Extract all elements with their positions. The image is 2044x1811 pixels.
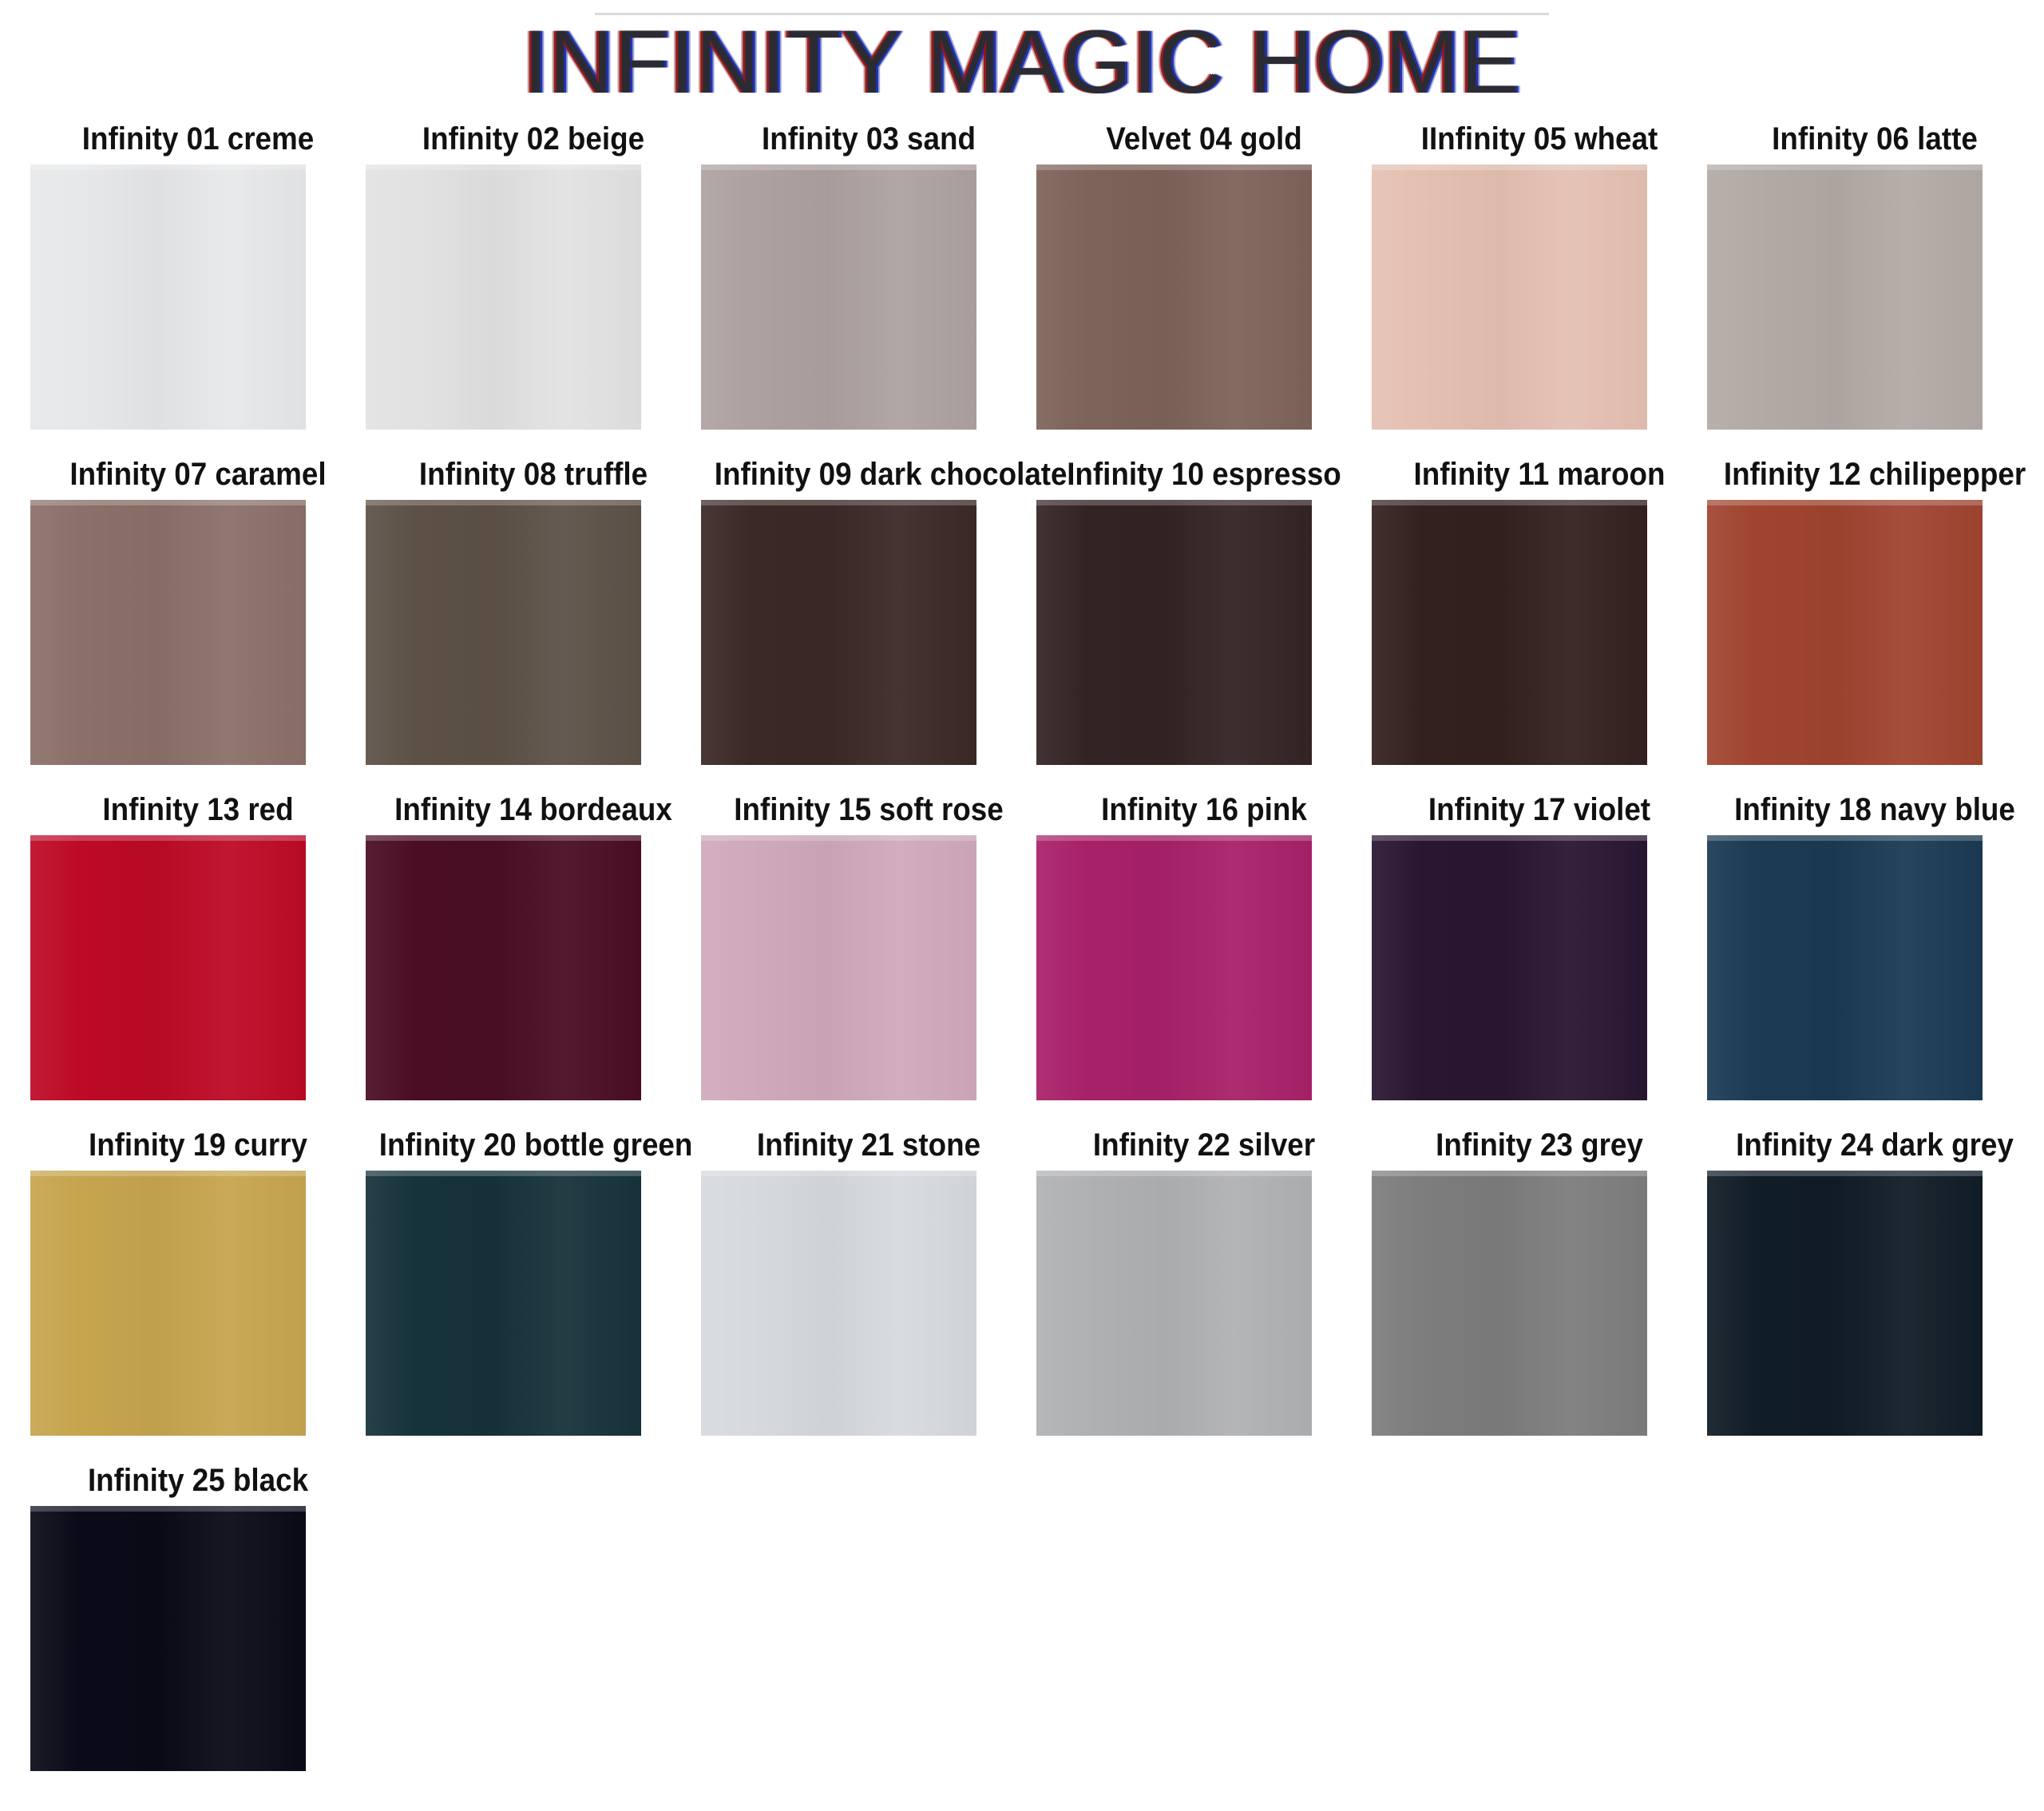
swatch-color-chip[interactable]	[366, 500, 641, 765]
swatch-color-chip[interactable]	[1036, 164, 1312, 430]
swatch-row: Infinity 25 black	[30, 1463, 2026, 1798]
swatch-cell[interactable]: Velvet 04 gold	[1036, 121, 1372, 457]
swatch-label: Infinity 10 espresso	[1050, 457, 1358, 500]
swatch-row: Infinity 13 redInfinity 14 bordeauxInfin…	[30, 792, 2026, 1127]
swatch-cell[interactable]: Infinity 21 stone	[701, 1127, 1036, 1463]
swatch-cell[interactable]: Infinity 12 chilipepper	[1707, 457, 2042, 792]
swatch-color-chip[interactable]	[1372, 1171, 1647, 1436]
swatch-label: Velvet 04 gold	[1050, 121, 1358, 164]
swatch-color-chip[interactable]	[1036, 1171, 1312, 1436]
swatch-cell[interactable]: Infinity 18 navy blue	[1707, 792, 2042, 1127]
swatch-color-chip[interactable]	[701, 164, 976, 430]
swatch-label: Infinity 20 bottle green	[379, 1127, 687, 1171]
swatch-color-chip[interactable]	[30, 835, 306, 1100]
swatch-color-chip[interactable]	[1372, 500, 1647, 765]
swatch-label: Infinity 15 soft rose	[715, 792, 1023, 835]
swatch-label: Infinity 06 latte	[1721, 121, 2029, 164]
swatch-cell[interactable]: Infinity 07 caramel	[30, 457, 366, 792]
swatch-cell[interactable]: Infinity 11 maroon	[1372, 457, 1707, 792]
swatch-label: Infinity 24 dark grey	[1721, 1127, 2029, 1171]
swatch-cell[interactable]: Infinity 19 curry	[30, 1127, 366, 1463]
swatch-color-chip[interactable]	[1372, 835, 1647, 1100]
swatch-color-chip[interactable]	[366, 1171, 641, 1436]
swatch-color-chip[interactable]	[30, 500, 306, 765]
swatch-cell[interactable]: Infinity 15 soft rose	[701, 792, 1036, 1127]
color-swatch-grid: Infinity 01 cremeInfinity 02 beigeInfini…	[30, 121, 2026, 1798]
swatch-label: Infinity 23 grey	[1385, 1127, 1693, 1171]
swatch-color-chip[interactable]	[701, 500, 976, 765]
swatch-cell[interactable]: IInfinity 05 wheat	[1372, 121, 1707, 457]
swatch-row: Infinity 07 caramelInfinity 08 truffleIn…	[30, 457, 2026, 792]
swatch-cell[interactable]: Infinity 14 bordeaux	[366, 792, 701, 1127]
swatch-cell[interactable]: Infinity 10 espresso	[1036, 457, 1372, 792]
swatch-cell[interactable]: Infinity 23 grey	[1372, 1127, 1707, 1463]
swatch-label: Infinity 12 chilipepper	[1721, 457, 2029, 500]
swatch-label: Infinity 09 dark chocolate	[715, 457, 1023, 500]
swatch-row: Infinity 01 cremeInfinity 02 beigeInfini…	[30, 121, 2026, 457]
swatch-label: Infinity 19 curry	[44, 1127, 352, 1171]
swatch-cell[interactable]: Infinity 02 beige	[366, 121, 701, 457]
swatch-label: Infinity 14 bordeaux	[379, 792, 687, 835]
swatch-cell[interactable]: Infinity 06 latte	[1707, 121, 2042, 457]
swatch-color-chip[interactable]	[30, 164, 306, 430]
swatch-color-chip[interactable]	[1707, 164, 1983, 430]
swatch-cell[interactable]: Infinity 17 violet	[1372, 792, 1707, 1127]
swatch-cell[interactable]: Infinity 08 truffle	[366, 457, 701, 792]
swatch-cell[interactable]: Infinity 03 sand	[701, 121, 1036, 457]
swatch-color-chip[interactable]	[1707, 835, 1983, 1100]
swatch-color-chip[interactable]	[30, 1506, 306, 1771]
swatch-color-chip[interactable]	[701, 1171, 976, 1436]
swatch-cell[interactable]: Infinity 13 red	[30, 792, 366, 1127]
swatch-cell[interactable]: Infinity 16 pink	[1036, 792, 1372, 1127]
swatch-color-chip[interactable]	[1707, 500, 1983, 765]
swatch-color-chip[interactable]	[1707, 1171, 1983, 1436]
swatch-label: Infinity 01 creme	[44, 121, 352, 164]
swatch-label: Infinity 21 stone	[715, 1127, 1023, 1171]
swatch-color-chip[interactable]	[1372, 164, 1647, 430]
swatch-label: Infinity 13 red	[44, 792, 352, 835]
swatch-cell[interactable]: Infinity 22 silver	[1036, 1127, 1372, 1463]
swatch-label: Infinity 02 beige	[379, 121, 687, 164]
swatch-label: Infinity 17 violet	[1385, 792, 1693, 835]
swatch-color-chip[interactable]	[1036, 835, 1312, 1100]
swatch-label: IInfinity 05 wheat	[1385, 121, 1693, 164]
swatch-color-chip[interactable]	[366, 835, 641, 1100]
swatch-color-chip[interactable]	[30, 1171, 306, 1436]
swatch-label: Infinity 25 black	[44, 1463, 352, 1506]
swatch-color-chip[interactable]	[701, 835, 976, 1100]
swatch-cell[interactable]: Infinity 01 creme	[30, 121, 366, 457]
swatch-label: Infinity 16 pink	[1050, 792, 1358, 835]
swatch-color-chip[interactable]	[1036, 500, 1312, 765]
swatch-cell[interactable]: Infinity 09 dark chocolate	[701, 457, 1036, 792]
page-header: INFINITY MAGIC HOME	[0, 0, 2044, 121]
swatch-color-chip[interactable]	[366, 164, 641, 430]
swatch-label: Infinity 22 silver	[1050, 1127, 1358, 1171]
swatch-cell[interactable]: Infinity 20 bottle green	[366, 1127, 701, 1463]
swatch-label: Infinity 08 truffle	[379, 457, 687, 500]
swatch-label: Infinity 07 caramel	[44, 457, 352, 500]
swatch-label: Infinity 18 navy blue	[1721, 792, 2029, 835]
swatch-cell[interactable]: Infinity 24 dark grey	[1707, 1127, 2042, 1463]
swatch-label: Infinity 11 maroon	[1385, 457, 1693, 500]
swatch-row: Infinity 19 curryInfinity 20 bottle gree…	[30, 1127, 2026, 1463]
page-title: INFINITY MAGIC HOME	[0, 18, 2044, 107]
swatch-cell[interactable]: Infinity 25 black	[30, 1463, 366, 1798]
swatch-label: Infinity 03 sand	[715, 121, 1023, 164]
